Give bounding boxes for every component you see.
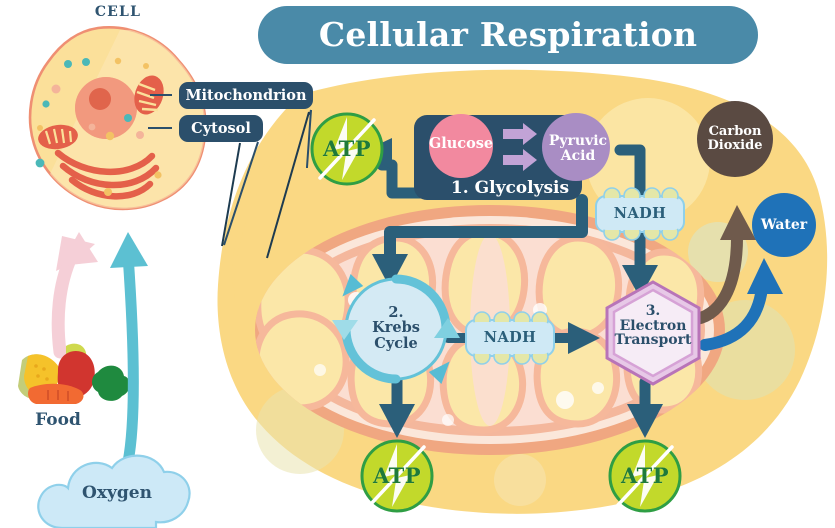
callout-mitochondrion[interactable]: Mitochondrion [179,82,313,109]
krebs-number: 2. [388,305,403,320]
krebs-cycle-label: 2. Krebs Cycle [355,300,437,356]
water-label: Water [753,215,815,235]
pyruvic-line-2: Acid [561,149,596,164]
krebs-line-2: Cycle [374,336,418,351]
nadh-middle-label: NADH [471,326,549,350]
diagram-canvas: Cellular Respiration CELL Mitochondrion … [0,0,835,528]
pyruvic-line-1: Pyruvic [549,134,607,149]
diagram-artwork [0,0,835,528]
food-illustration [18,344,130,404]
atp-label-2: ATP [365,463,429,489]
co2-line-2: Dioxide [708,139,763,153]
glycolysis-title: 1. Glycolysis [440,178,580,200]
page-title: Cellular Respiration [258,6,758,64]
oxygen-arrow [110,232,148,462]
electron-transport-label: 3. Electron Transport [606,297,700,355]
atp-label-3: ATP [613,463,677,489]
callout-cytosol[interactable]: Cytosol [179,115,263,142]
co2-line-1: Carbon [709,125,762,139]
carbon-dioxide-label: Carbon Dioxide [697,121,773,157]
food-label: Food [18,410,98,432]
nadh-top-label: NADH [601,202,679,226]
etc-number: 3. [646,304,661,319]
glucose-label: Glucose [423,134,499,154]
atp-label-1: ATP [315,136,379,162]
nucleolus [89,88,111,110]
etc-line-2: Transport [615,333,692,348]
krebs-line-1: Krebs [372,320,420,335]
cell-heading: CELL [58,2,178,22]
etc-line-1: Electron [620,319,687,334]
food-arrow [56,232,98,352]
pyruvic-acid-label: Pyruvic Acid [540,132,616,166]
oxygen-label: Oxygen [62,482,172,506]
